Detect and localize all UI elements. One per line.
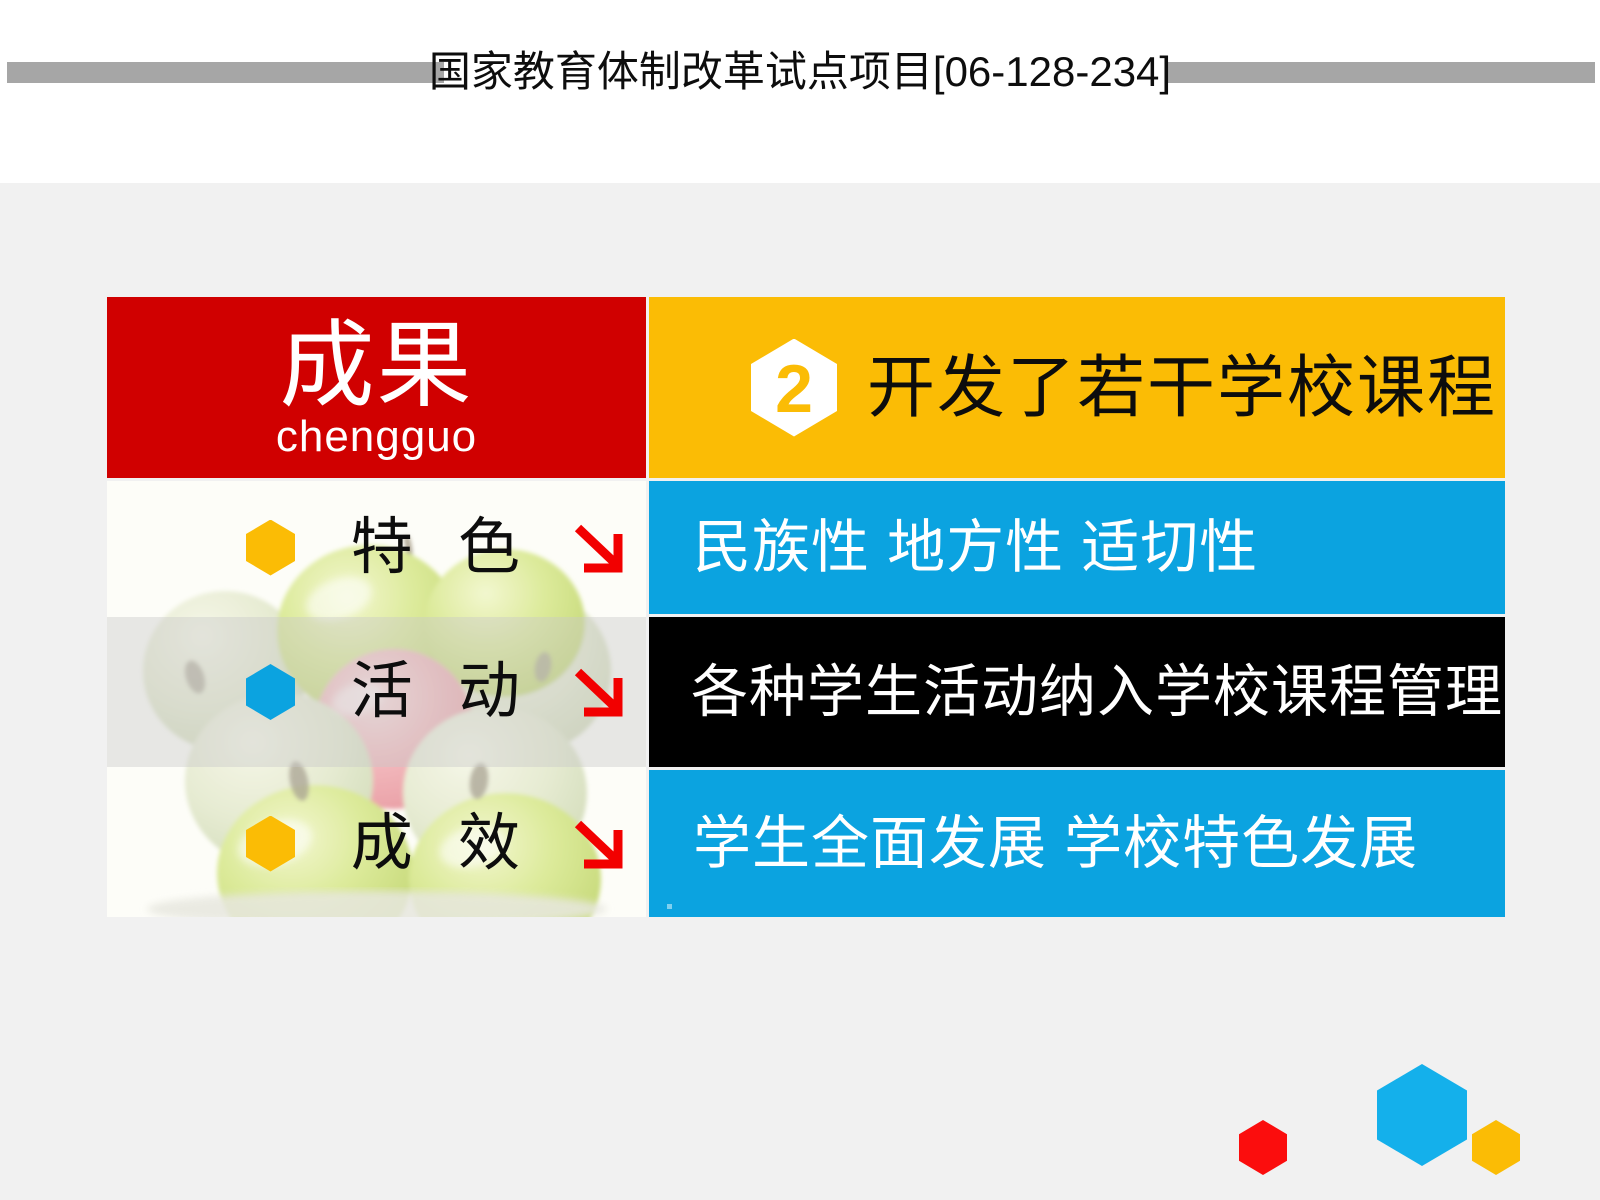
arrow-down-right-icon <box>572 818 628 870</box>
slide-header: 国家教育体制改革试点项目[06-128-234] <box>0 0 1600 183</box>
page-title: 国家教育体制改革试点项目[06-128-234] <box>0 44 1600 100</box>
brand-pinyin: chengguo <box>276 414 477 460</box>
row-1-content: 民族性 地方性 适切性 <box>693 517 1258 579</box>
slide-title-text: 开发了若干学校课程 <box>867 352 1497 424</box>
table-row: 活 动 各种学生活动纳入学校课程管理 <box>107 617 1505 767</box>
row-1-content-cell: 民族性 地方性 适切性 <box>649 481 1505 614</box>
row-3-content: 学生全面发展 学校特色发展 <box>693 813 1418 875</box>
brand-chinese: 成果 <box>279 316 473 416</box>
row-2-content-cell: 各种学生活动纳入学校课程管理 <box>649 617 1505 767</box>
row-3-left-cell: 成 效 <box>107 770 646 917</box>
row-1-label: 特 色 <box>351 515 534 581</box>
hexagon-bullet-icon <box>246 664 295 720</box>
table-header-row: 成果 chengguo 2 开发了若干学校课程 <box>107 297 1505 478</box>
slide-title-cell: 2 开发了若干学校课程 <box>649 297 1505 478</box>
row-2-label: 活 动 <box>351 659 534 725</box>
table-row: 特 色 民族性 地方性 适切性 <box>107 481 1505 614</box>
row-2-left-cell: 活 动 <box>107 617 646 767</box>
arrow-down-right-icon <box>572 522 628 574</box>
arrow-down-right-icon <box>572 666 628 718</box>
row-3-content-cell: 学生全面发展 学校特色发展 <box>649 770 1505 917</box>
slide-stage: 成果 chengguo 2 开发了若干学校课程 特 色 <box>0 183 1600 1200</box>
row-1-left-cell: 特 色 <box>107 481 646 614</box>
row-2-content: 各种学生活动纳入学校课程管理 <box>691 661 1503 723</box>
hexagon-bullet-icon <box>246 520 295 576</box>
badge-number: 2 <box>775 355 813 423</box>
table-row: 成 效 学生全面发展 学校特色发展 <box>107 770 1505 917</box>
decorative-dot <box>667 904 672 909</box>
brand-cell: 成果 chengguo <box>107 297 646 478</box>
results-table: 成果 chengguo 2 开发了若干学校课程 特 色 <box>107 297 1505 987</box>
row-3-label: 成 效 <box>351 811 534 877</box>
hexagon-badge-icon: 2 <box>751 339 837 437</box>
hexagon-bullet-icon <box>246 816 295 872</box>
